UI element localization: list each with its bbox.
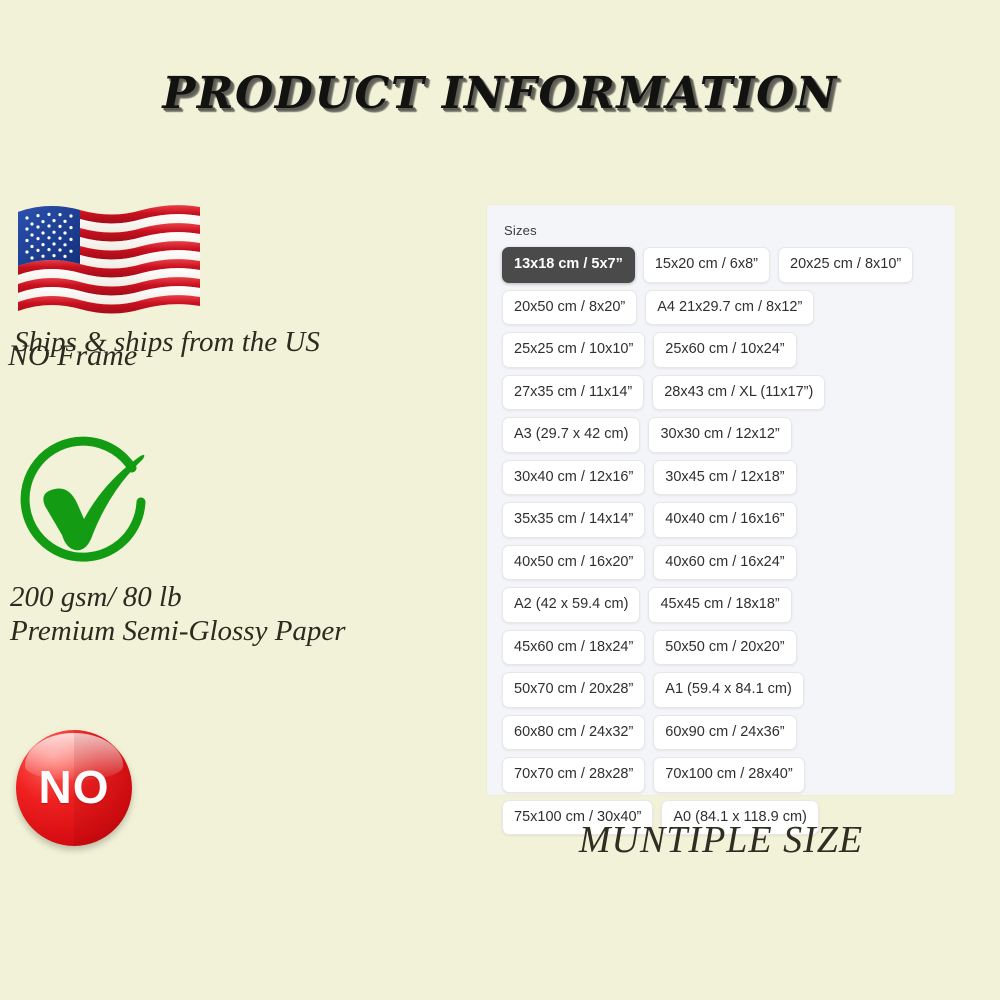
- size-option-chip[interactable]: 28x43 cm / XL (11x17”): [652, 375, 825, 411]
- feature-label-paper: 200 gsm/ 80 lb Premium Semi-Glossy Paper: [10, 580, 346, 648]
- size-option-chip[interactable]: A4 21x29.7 cm / 8x12”: [645, 290, 814, 326]
- size-option-chip[interactable]: 25x60 cm / 10x24”: [653, 332, 796, 368]
- green-check-icon: [14, 430, 164, 580]
- size-option-chip[interactable]: 40x50 cm / 16x20”: [502, 545, 645, 581]
- size-option-chip[interactable]: 50x50 cm / 20x20”: [653, 630, 796, 666]
- feature-label-no-frame: NO Frame: [8, 338, 137, 373]
- size-option-chip[interactable]: 45x60 cm / 18x24”: [502, 630, 645, 666]
- size-option-chip[interactable]: 30x40 cm / 12x16”: [502, 460, 645, 496]
- size-option-chip[interactable]: A1 (59.4 x 84.1 cm): [653, 672, 804, 708]
- size-option-chip[interactable]: 35x35 cm / 14x14”: [502, 502, 645, 538]
- size-option-chip[interactable]: A2 (42 x 59.4 cm): [502, 587, 640, 623]
- size-option-chip[interactable]: 20x50 cm / 8x20”: [502, 290, 637, 326]
- size-option-chip[interactable]: 70x70 cm / 28x28”: [502, 757, 645, 793]
- size-option-chip[interactable]: 70x100 cm / 28x40”: [653, 757, 804, 793]
- size-option-chip[interactable]: 30x45 cm / 12x18”: [653, 460, 796, 496]
- size-option-chip[interactable]: 25x25 cm / 10x10”: [502, 332, 645, 368]
- size-option-chip[interactable]: 40x40 cm / 16x16”: [653, 502, 796, 538]
- no-badge-label: NO: [16, 760, 132, 814]
- size-option-chip[interactable]: 50x70 cm / 20x28”: [502, 672, 645, 708]
- size-option-chip[interactable]: 40x60 cm / 16x24”: [653, 545, 796, 581]
- product-information-graphic: PRODUCT INFORMATION: [0, 0, 1000, 1000]
- no-badge-icon: NO: [16, 730, 132, 846]
- size-option-chip[interactable]: 60x90 cm / 24x36”: [653, 715, 796, 751]
- feature-paper-quality: [14, 430, 164, 580]
- size-option-grid: 13x18 cm / 5x7”15x20 cm / 6x8”20x25 cm /…: [502, 247, 941, 835]
- features-column: Ships & ships from the US 200 gsm/ 80 lb…: [0, 190, 480, 930]
- size-option-chip[interactable]: 20x25 cm / 8x10”: [778, 247, 913, 283]
- size-option-chip[interactable]: 27x35 cm / 11x14”: [502, 375, 644, 411]
- feature-no-frame: NO: [16, 730, 132, 846]
- multiple-size-caption: MUNTIPLE SIZE: [487, 818, 955, 862]
- sizes-label: Sizes: [504, 223, 941, 238]
- size-option-chip[interactable]: 13x18 cm / 5x7”: [502, 247, 635, 283]
- size-option-chip[interactable]: 60x80 cm / 24x32”: [502, 715, 645, 751]
- size-option-chip[interactable]: 30x30 cm / 12x12”: [648, 417, 791, 453]
- size-option-chip[interactable]: 45x45 cm / 18x18”: [648, 587, 791, 623]
- size-option-chip[interactable]: A3 (29.7 x 42 cm): [502, 417, 640, 453]
- us-flag-icon: [14, 198, 204, 318]
- size-option-chip[interactable]: 15x20 cm / 6x8”: [643, 247, 770, 283]
- page-title: PRODUCT INFORMATION: [0, 68, 1000, 119]
- feature-ships-from-us: [14, 198, 204, 318]
- sizes-panel: Sizes 13x18 cm / 5x7”15x20 cm / 6x8”20x2…: [487, 205, 955, 795]
